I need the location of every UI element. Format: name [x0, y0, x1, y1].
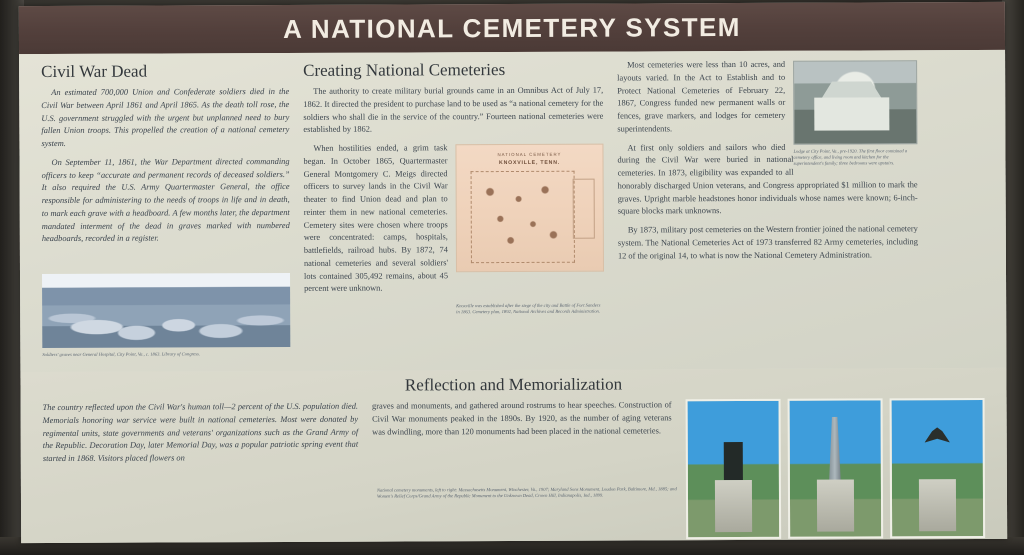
map-side-section — [573, 179, 595, 239]
civil-war-dead-paragraph-2: On September 11, 1861, the War Departmen… — [41, 156, 289, 246]
heading-reflection-memorialization: Reflection and Memorialization — [42, 373, 984, 397]
maryland-sons-monument-photo — [788, 398, 884, 538]
map-title-line-1: NATIONAL CEMETERY — [456, 152, 602, 158]
soldier-statue-figure — [724, 442, 742, 480]
city-point-lodge-photo — [793, 60, 917, 145]
lower-content-area: Reflection and Memorialization The count… — [20, 368, 1007, 543]
reflection-paragraph-right: graves and monuments, and gathered aroun… — [372, 399, 672, 439]
lodge-facade — [814, 97, 890, 130]
page-title: A NATIONAL CEMETERY SYSTEM — [283, 12, 741, 45]
heading-civil-war-dead: Civil War Dead — [41, 61, 289, 82]
soldiers-graves-photo-caption: Soldiers' graves near General Hospital, … — [42, 351, 290, 358]
monument-photos-caption: National cemetery monuments, left to rig… — [377, 486, 677, 500]
unknown-dead-monument-photo — [890, 398, 986, 538]
monument-pedestal — [817, 479, 854, 531]
knoxville-cemetery-map: NATIONAL CEMETERY KNOXVILLE, TENN. — [455, 144, 604, 273]
massachusetts-monument-photo — [686, 399, 782, 539]
knoxville-map-caption: Knoxville was established after the sieg… — [456, 303, 604, 316]
sign-face: A NATIONAL CEMETERY SYSTEM Civil War Dea… — [19, 2, 1007, 543]
right-column-paragraph-3: By 1873, military post cemeteries on the… — [618, 223, 918, 263]
civil-war-dead-body: An estimated 700,000 Union and Confedera… — [41, 86, 290, 246]
eagle-statue-figure — [924, 427, 950, 446]
monument-pedestal — [919, 479, 956, 531]
monument-pedestal — [715, 480, 752, 532]
soldiers-graves-photo — [42, 273, 290, 348]
section-creating-national-cemeteries: Creating National Cemeteries The authori… — [303, 60, 604, 371]
reflection-paragraph-left: The country reflected upon the Civil War… — [43, 401, 359, 466]
civil-war-dead-paragraph-1: An estimated 700,000 Union and Confedera… — [41, 86, 289, 151]
map-grave-plot-area — [471, 171, 575, 263]
reflection-right-column: graves and monuments, and gathered aroun… — [372, 399, 672, 540]
section-civil-war-dead: Civil War Dead An estimated 700,000 Unio… — [41, 61, 290, 372]
title-band: A NATIONAL CEMETERY SYSTEM — [19, 2, 1005, 54]
creating-paragraph-1-wrap: The authority to create military burial … — [303, 85, 603, 137]
upper-content-area: Civil War Dead An estimated 700,000 Unio… — [19, 50, 1006, 372]
map-title-line-2: KNOXVILLE, TENN. — [457, 160, 603, 167]
heading-creating-national-cemeteries: Creating National Cemeteries — [303, 60, 603, 81]
reflection-left-column: The country reflected upon the Civil War… — [43, 401, 359, 542]
monument-photo-strip — [686, 398, 986, 539]
upper-columns: Civil War Dead An estimated 700,000 Unio… — [41, 58, 984, 372]
section-right-column: Lodge at City Point, Va., pre-1920. The … — [617, 58, 918, 369]
creating-paragraph-1: The authority to create military burial … — [303, 85, 603, 137]
lower-columns: The country reflected upon the Civil War… — [43, 398, 986, 542]
city-point-lodge-caption: Lodge at City Point, Va., pre-1920. The … — [793, 148, 917, 167]
sign-outer-frame: A NATIONAL CEMETERY SYSTEM Civil War Dea… — [0, 0, 1024, 555]
